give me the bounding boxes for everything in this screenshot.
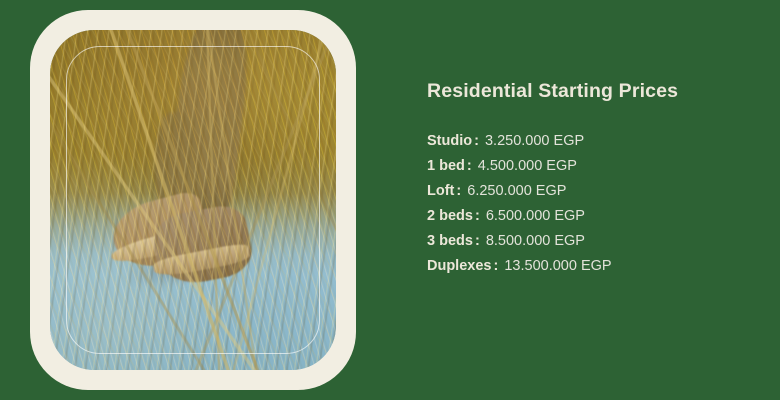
list-item: 2 beds: 6.500.000 EGP (427, 204, 747, 229)
list-item: Duplexes: 13.500.000 EGP (427, 254, 747, 279)
photo-warm-light-layer (50, 30, 336, 370)
list-item: 3 beds: 8.500.000 EGP (427, 229, 747, 254)
pricing-panel: Residential Starting Prices Studio: 3.25… (427, 80, 747, 279)
page-title: Residential Starting Prices (427, 80, 747, 103)
price-label: 3 beds (427, 233, 473, 249)
price-label: Duplexes (427, 258, 491, 274)
price-value: 4.500.000 EGP (478, 158, 577, 174)
price-value: 3.250.000 EGP (485, 133, 584, 149)
photo-image (50, 30, 336, 370)
price-label: 2 beds (427, 208, 473, 224)
price-separator: : (454, 183, 463, 199)
list-item: Studio: 3.250.000 EGP (427, 129, 747, 154)
presentation-slide: Residential Starting Prices Studio: 3.25… (0, 0, 780, 400)
price-separator: : (465, 158, 474, 174)
price-label: Loft (427, 183, 454, 199)
price-list: Studio: 3.250.000 EGP 1 bed: 4.500.000 E… (427, 129, 747, 279)
price-label: Studio (427, 133, 472, 149)
price-value: 8.500.000 EGP (486, 233, 585, 249)
list-item: Loft: 6.250.000 EGP (427, 179, 747, 204)
list-item: 1 bed: 4.500.000 EGP (427, 154, 747, 179)
price-separator: : (473, 233, 482, 249)
price-value: 6.250.000 EGP (467, 183, 566, 199)
price-separator: : (491, 258, 500, 274)
photo-card (30, 10, 356, 390)
price-separator: : (473, 208, 482, 224)
price-label: 1 bed (427, 158, 465, 174)
price-separator: : (472, 133, 481, 149)
price-value: 13.500.000 EGP (504, 258, 611, 274)
price-value: 6.500.000 EGP (486, 208, 585, 224)
